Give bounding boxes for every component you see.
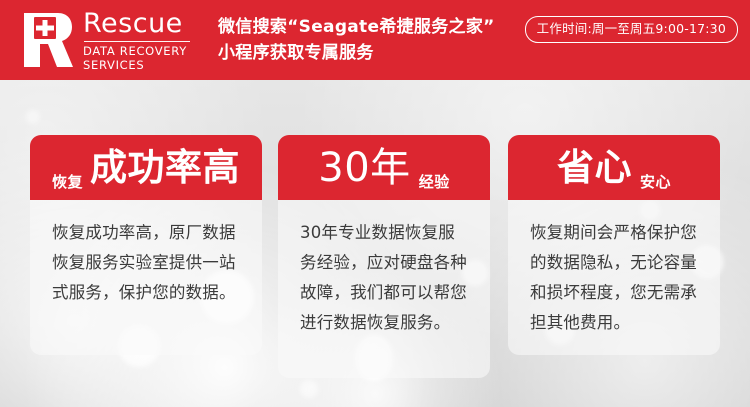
feature-card-heading-prefix: 恢复 [52, 173, 83, 191]
feature-card-heading-main: 成功率高 [90, 148, 240, 188]
feature-card-heading-main: 30年 [318, 148, 410, 188]
feature-card-heading-suffix: 安心 [640, 173, 671, 191]
feature-card: 恢复 成功率高 恢复成功率高，原厂数据恢复服务实验室提供一站式服务，保护您的数据… [30, 135, 262, 355]
feature-card-body: 恢复成功率高，原厂数据恢复服务实验室提供一站式服务，保护您的数据。 [30, 200, 262, 355]
feature-card-heading-main: 省心 [557, 148, 632, 188]
feature-card-heading: 省心 安心 [508, 135, 720, 200]
feature-card-list: 恢复 成功率高 恢复成功率高，原厂数据恢复服务实验室提供一站式服务，保护您的数据… [0, 0, 750, 407]
feature-card: 省心 安心 恢复期间会严格保护您的数据隐私，无论容量和损坏程度，您无需承担其他费… [508, 135, 720, 355]
feature-card-body: 恢复期间会严格保护您的数据隐私，无论容量和损坏程度，您无需承担其他费用。 [508, 200, 720, 355]
promo-banner: Rescue DATA RECOVERY SERVICES 微信搜索“Seaga… [0, 0, 750, 407]
feature-card-heading: 恢复 成功率高 [30, 135, 262, 200]
feature-card-heading-suffix: 经验 [419, 173, 450, 191]
feature-card: 30年 经验 30年专业数据恢复服务经验，应对硬盘各种故障，我们都可以帮您进行数… [278, 135, 490, 378]
feature-card-heading: 30年 经验 [278, 135, 490, 200]
feature-card-body: 30年专业数据恢复服务经验，应对硬盘各种故障，我们都可以帮您进行数据恢复服务。 [278, 200, 490, 378]
